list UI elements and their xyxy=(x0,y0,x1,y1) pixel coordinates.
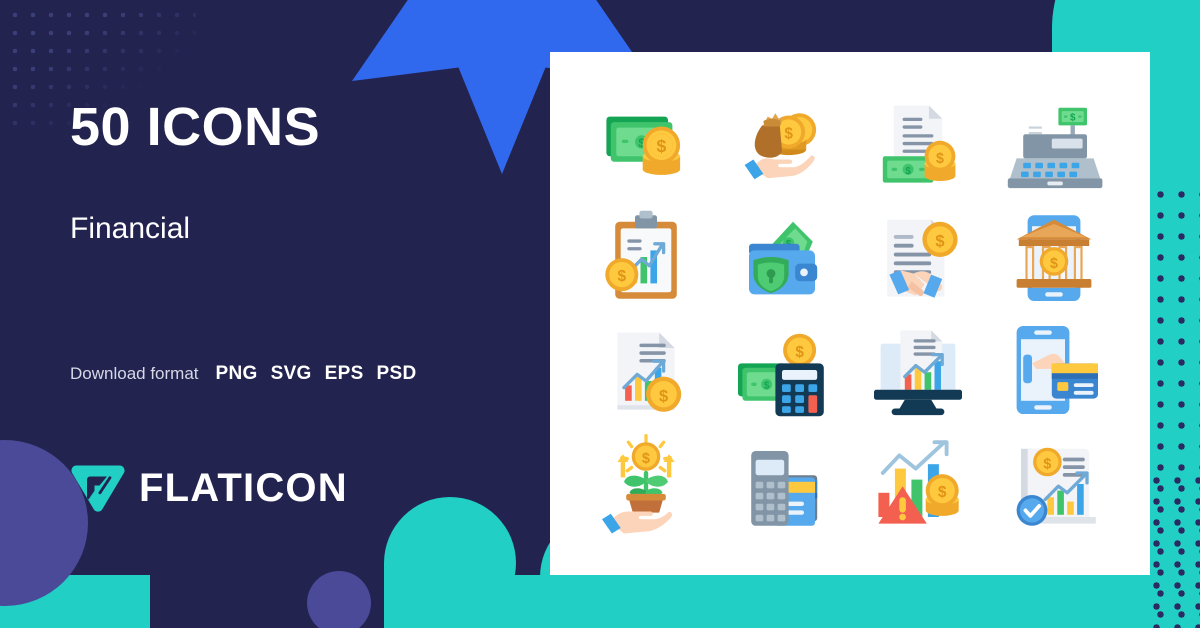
money-growth-plant-icon: $ xyxy=(591,429,701,539)
financial-report-icon: $ xyxy=(591,315,701,425)
brand-logo[interactable]: FLATICON xyxy=(70,462,348,514)
info-column: 50 ICONS Financial Download format PNG S… xyxy=(70,0,530,628)
svg-text:$: $ xyxy=(642,451,650,467)
mobile-banking-icon: $ xyxy=(999,202,1109,312)
verified-report-icon: $ xyxy=(999,429,1109,539)
mobile-card-payment-icon xyxy=(999,315,1109,425)
svg-text:$: $ xyxy=(618,268,627,285)
dot-grid-bottom-right-icon xyxy=(1146,470,1200,628)
flaticon-logo-icon xyxy=(70,462,126,514)
svg-text:$: $ xyxy=(936,151,944,167)
svg-text:$: $ xyxy=(764,381,770,392)
format-svg[interactable]: SVG xyxy=(271,363,312,385)
monitor-analytics-icon xyxy=(863,315,973,425)
download-format-label: Download format xyxy=(70,364,199,384)
invoice-payment-icon: $ $ xyxy=(863,88,973,198)
format-psd[interactable]: PSD xyxy=(377,363,417,385)
svg-text:$: $ xyxy=(659,388,668,406)
contract-handshake-icon: $ xyxy=(863,202,973,312)
download-format-row: Download format PNG SVG EPS PSD xyxy=(70,363,417,385)
svg-text:$: $ xyxy=(1050,256,1058,272)
svg-text:$: $ xyxy=(905,166,911,177)
page-title: 50 ICONS xyxy=(70,100,320,154)
icon-preview-card: $ $ $ xyxy=(550,52,1150,575)
svg-text:$: $ xyxy=(795,344,804,361)
pos-terminal-icon xyxy=(727,429,837,539)
promo-banner: 50 ICONS Financial Download format PNG S… xyxy=(0,0,1200,628)
page-subtitle: Financial xyxy=(70,212,190,246)
format-png[interactable]: PNG xyxy=(216,363,258,385)
svg-text:$: $ xyxy=(784,125,793,142)
money-bag-hand-icon: $ $ xyxy=(727,88,837,198)
svg-text:$: $ xyxy=(657,136,667,156)
brand-name-label: FLATICON xyxy=(139,466,348,511)
svg-text:$: $ xyxy=(935,232,944,250)
secure-wallet-icon: $ xyxy=(727,202,837,312)
cash-money-icon: $ $ xyxy=(591,88,701,198)
svg-text:$: $ xyxy=(938,484,947,501)
calculator-money-icon: $ $ xyxy=(727,315,837,425)
svg-text:$: $ xyxy=(1043,457,1051,473)
cash-register-icon: $ xyxy=(999,88,1109,198)
clipboard-report-icon: $ xyxy=(591,202,701,312)
format-eps[interactable]: EPS xyxy=(325,363,364,385)
financial-risk-icon: $ xyxy=(863,429,973,539)
svg-text:$: $ xyxy=(1070,112,1076,123)
download-format-list: PNG SVG EPS PSD xyxy=(216,363,417,385)
